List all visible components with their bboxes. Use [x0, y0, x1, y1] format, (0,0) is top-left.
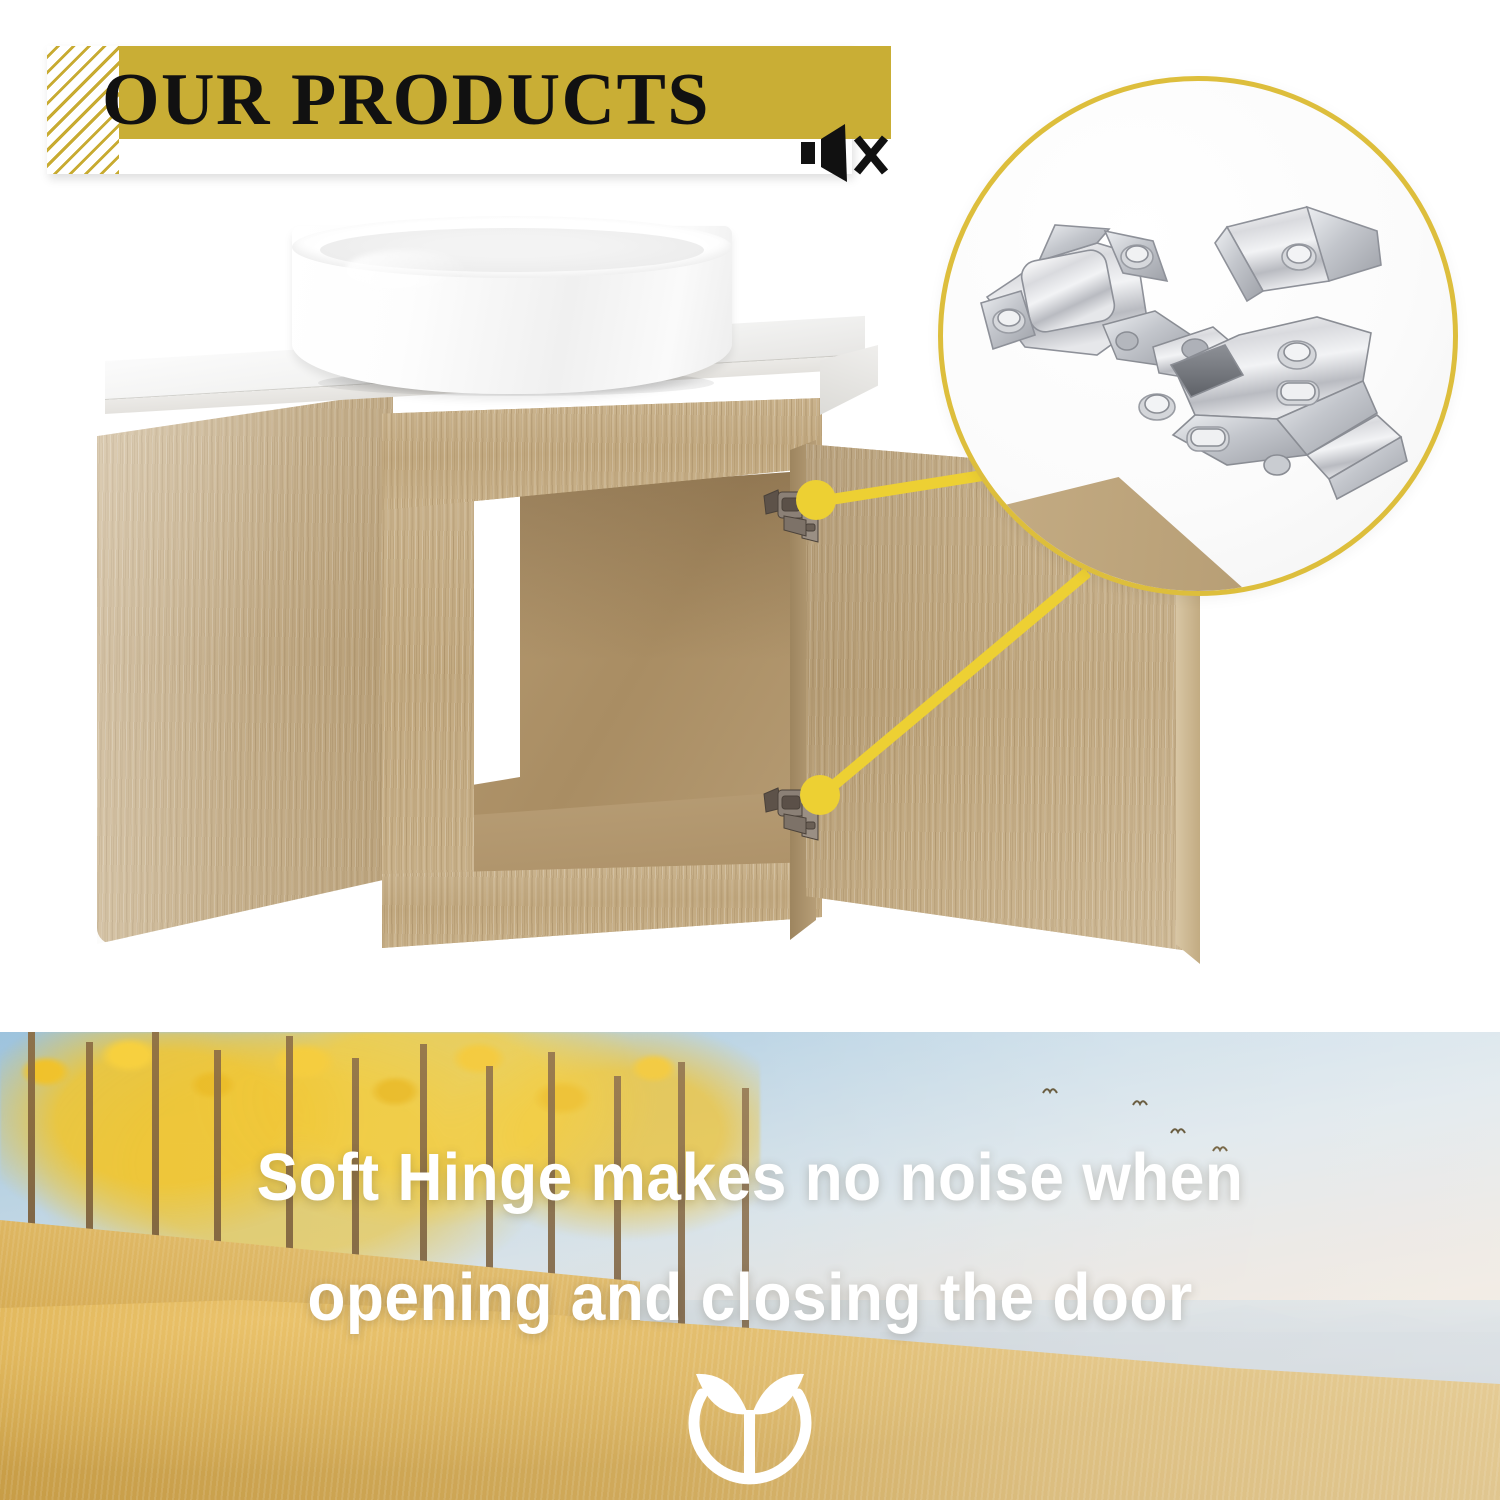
- page-title: OUR PRODUCTS: [102, 54, 862, 146]
- banner-caption-line-2: opening and closing the door: [53, 1238, 1448, 1358]
- cabinet-body-shading: [97, 392, 393, 944]
- cabinet-interior-gap: [466, 486, 520, 786]
- cabinet-bottom-rail: [382, 862, 822, 948]
- bird-icon: [1042, 1086, 1058, 1096]
- sink-highlight: [345, 250, 465, 290]
- header-card: OUR PRODUCTS: [47, 46, 852, 174]
- bird-icon: [1132, 1098, 1148, 1108]
- soft-close-hinge-icon: [977, 169, 1437, 529]
- callout-leader-dot-bottom: [800, 775, 840, 815]
- sprout-leaf-circle-icon: [672, 1356, 828, 1490]
- callout-leader-dot-top: [796, 480, 836, 520]
- section-header: OUR PRODUCTS: [47, 46, 867, 196]
- banner-caption-line-1: Soft Hinge makes no noise when: [53, 1118, 1448, 1238]
- speaker-mute-icon: [799, 122, 895, 184]
- banner-caption: Soft Hinge makes no noise when opening a…: [53, 1118, 1448, 1358]
- product-showcase-panel: OUR PRODUCTS: [0, 0, 1500, 1032]
- hinge-detail-callout: [938, 76, 1458, 596]
